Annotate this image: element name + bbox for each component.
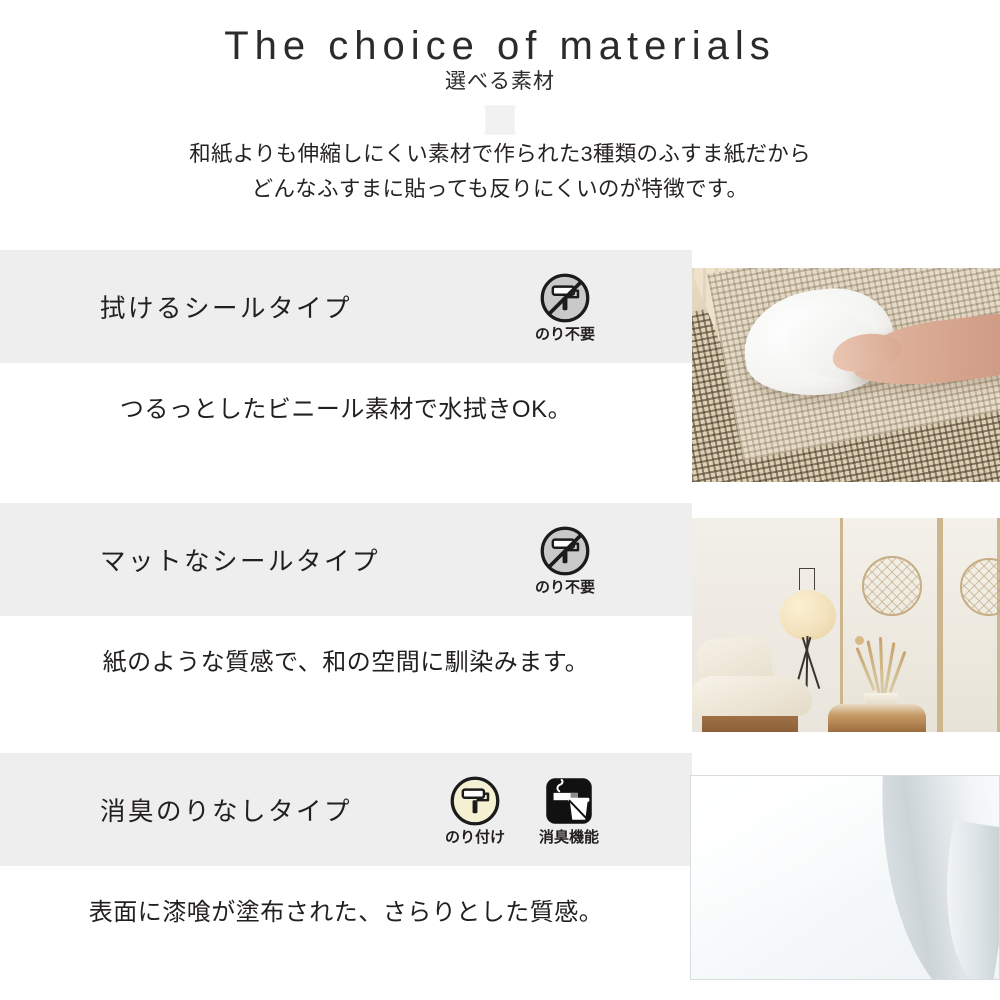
section-3-description: 表面に漆喰が塗布された、さらりとした質感。	[0, 896, 692, 930]
badge-glue-label: のり付け	[445, 830, 505, 845]
section-1-description: つるっとしたビニール素材で水拭きOK。	[0, 393, 692, 427]
badge-glue: のり付け	[438, 775, 512, 845]
section-3-title: 消臭のりなしタイプ	[100, 753, 352, 866]
section-1-title: 拭けるシールタイプ	[100, 250, 352, 363]
side-table	[828, 704, 926, 732]
door-pull	[855, 636, 864, 645]
section-3-badges: のり付け 消臭機能	[438, 753, 606, 866]
page-root: The choice of materials 選べる素材 和紙よりも伸縮しにく…	[0, 0, 1000, 1000]
material-section-2: マットなシールタイプ のり不要 紙のような質感で、和の空間に馴染みます。	[0, 503, 1000, 753]
section-2-badges: のり不要	[528, 503, 602, 616]
paper-lamp-shade	[780, 590, 836, 640]
material-section-3: 消臭のりなしタイプ のり付け	[0, 753, 1000, 1000]
section-2-title: マットなシールタイプ	[100, 503, 380, 616]
page-lead: 和紙よりも伸縮しにくい素材で作られた3種類のふすま紙だから どんなふすまに貼って…	[0, 137, 1000, 207]
section-2-photo	[692, 518, 1000, 732]
lamp-neck	[799, 568, 815, 590]
badge-no-glue: のり不要	[528, 272, 602, 342]
badge-no-glue-label: のり不要	[535, 580, 595, 595]
badge-no-glue-label: のり不要	[535, 327, 595, 342]
no-glue-roller-icon	[539, 525, 591, 577]
section-1-photo	[692, 268, 1000, 482]
badge-deodorize: 消臭機能	[532, 775, 606, 845]
material-section-1: 拭けるシールタイプ のり不要 つるっとしたビニール素材で水拭きOK。	[0, 250, 1000, 500]
armchair-seat	[692, 676, 812, 716]
page-title-en: The choice of materials	[0, 22, 1000, 70]
badge-no-glue: のり不要	[528, 525, 602, 595]
lamp-leg-3	[806, 636, 809, 692]
page-lead-line-2: どんなふすまに貼っても反りにくいのが特徴です。	[0, 172, 1000, 207]
title-divider	[485, 105, 515, 135]
glue-roller-icon	[449, 775, 501, 827]
lattice-circle-1	[862, 556, 922, 616]
section-2-description: 紙のような質感で、和の空間に馴染みます。	[0, 646, 692, 680]
fusuma-panel-right	[940, 518, 1000, 732]
page-subtitle-ja: 選べる素材	[0, 68, 1000, 95]
deodorize-icon	[543, 775, 595, 827]
section-3-photo	[690, 775, 1000, 980]
no-glue-roller-icon	[539, 272, 591, 324]
page-header: The choice of materials 選べる素材 和紙よりも伸縮しにく…	[0, 0, 1000, 240]
section-1-badges: のり不要	[528, 250, 602, 363]
lamp-leg-2	[802, 637, 821, 689]
page-lead-line-1: 和紙よりも伸縮しにくい素材で作られた3種類のふすま紙だから	[0, 137, 1000, 172]
badge-deodorize-label: 消臭機能	[539, 830, 599, 845]
